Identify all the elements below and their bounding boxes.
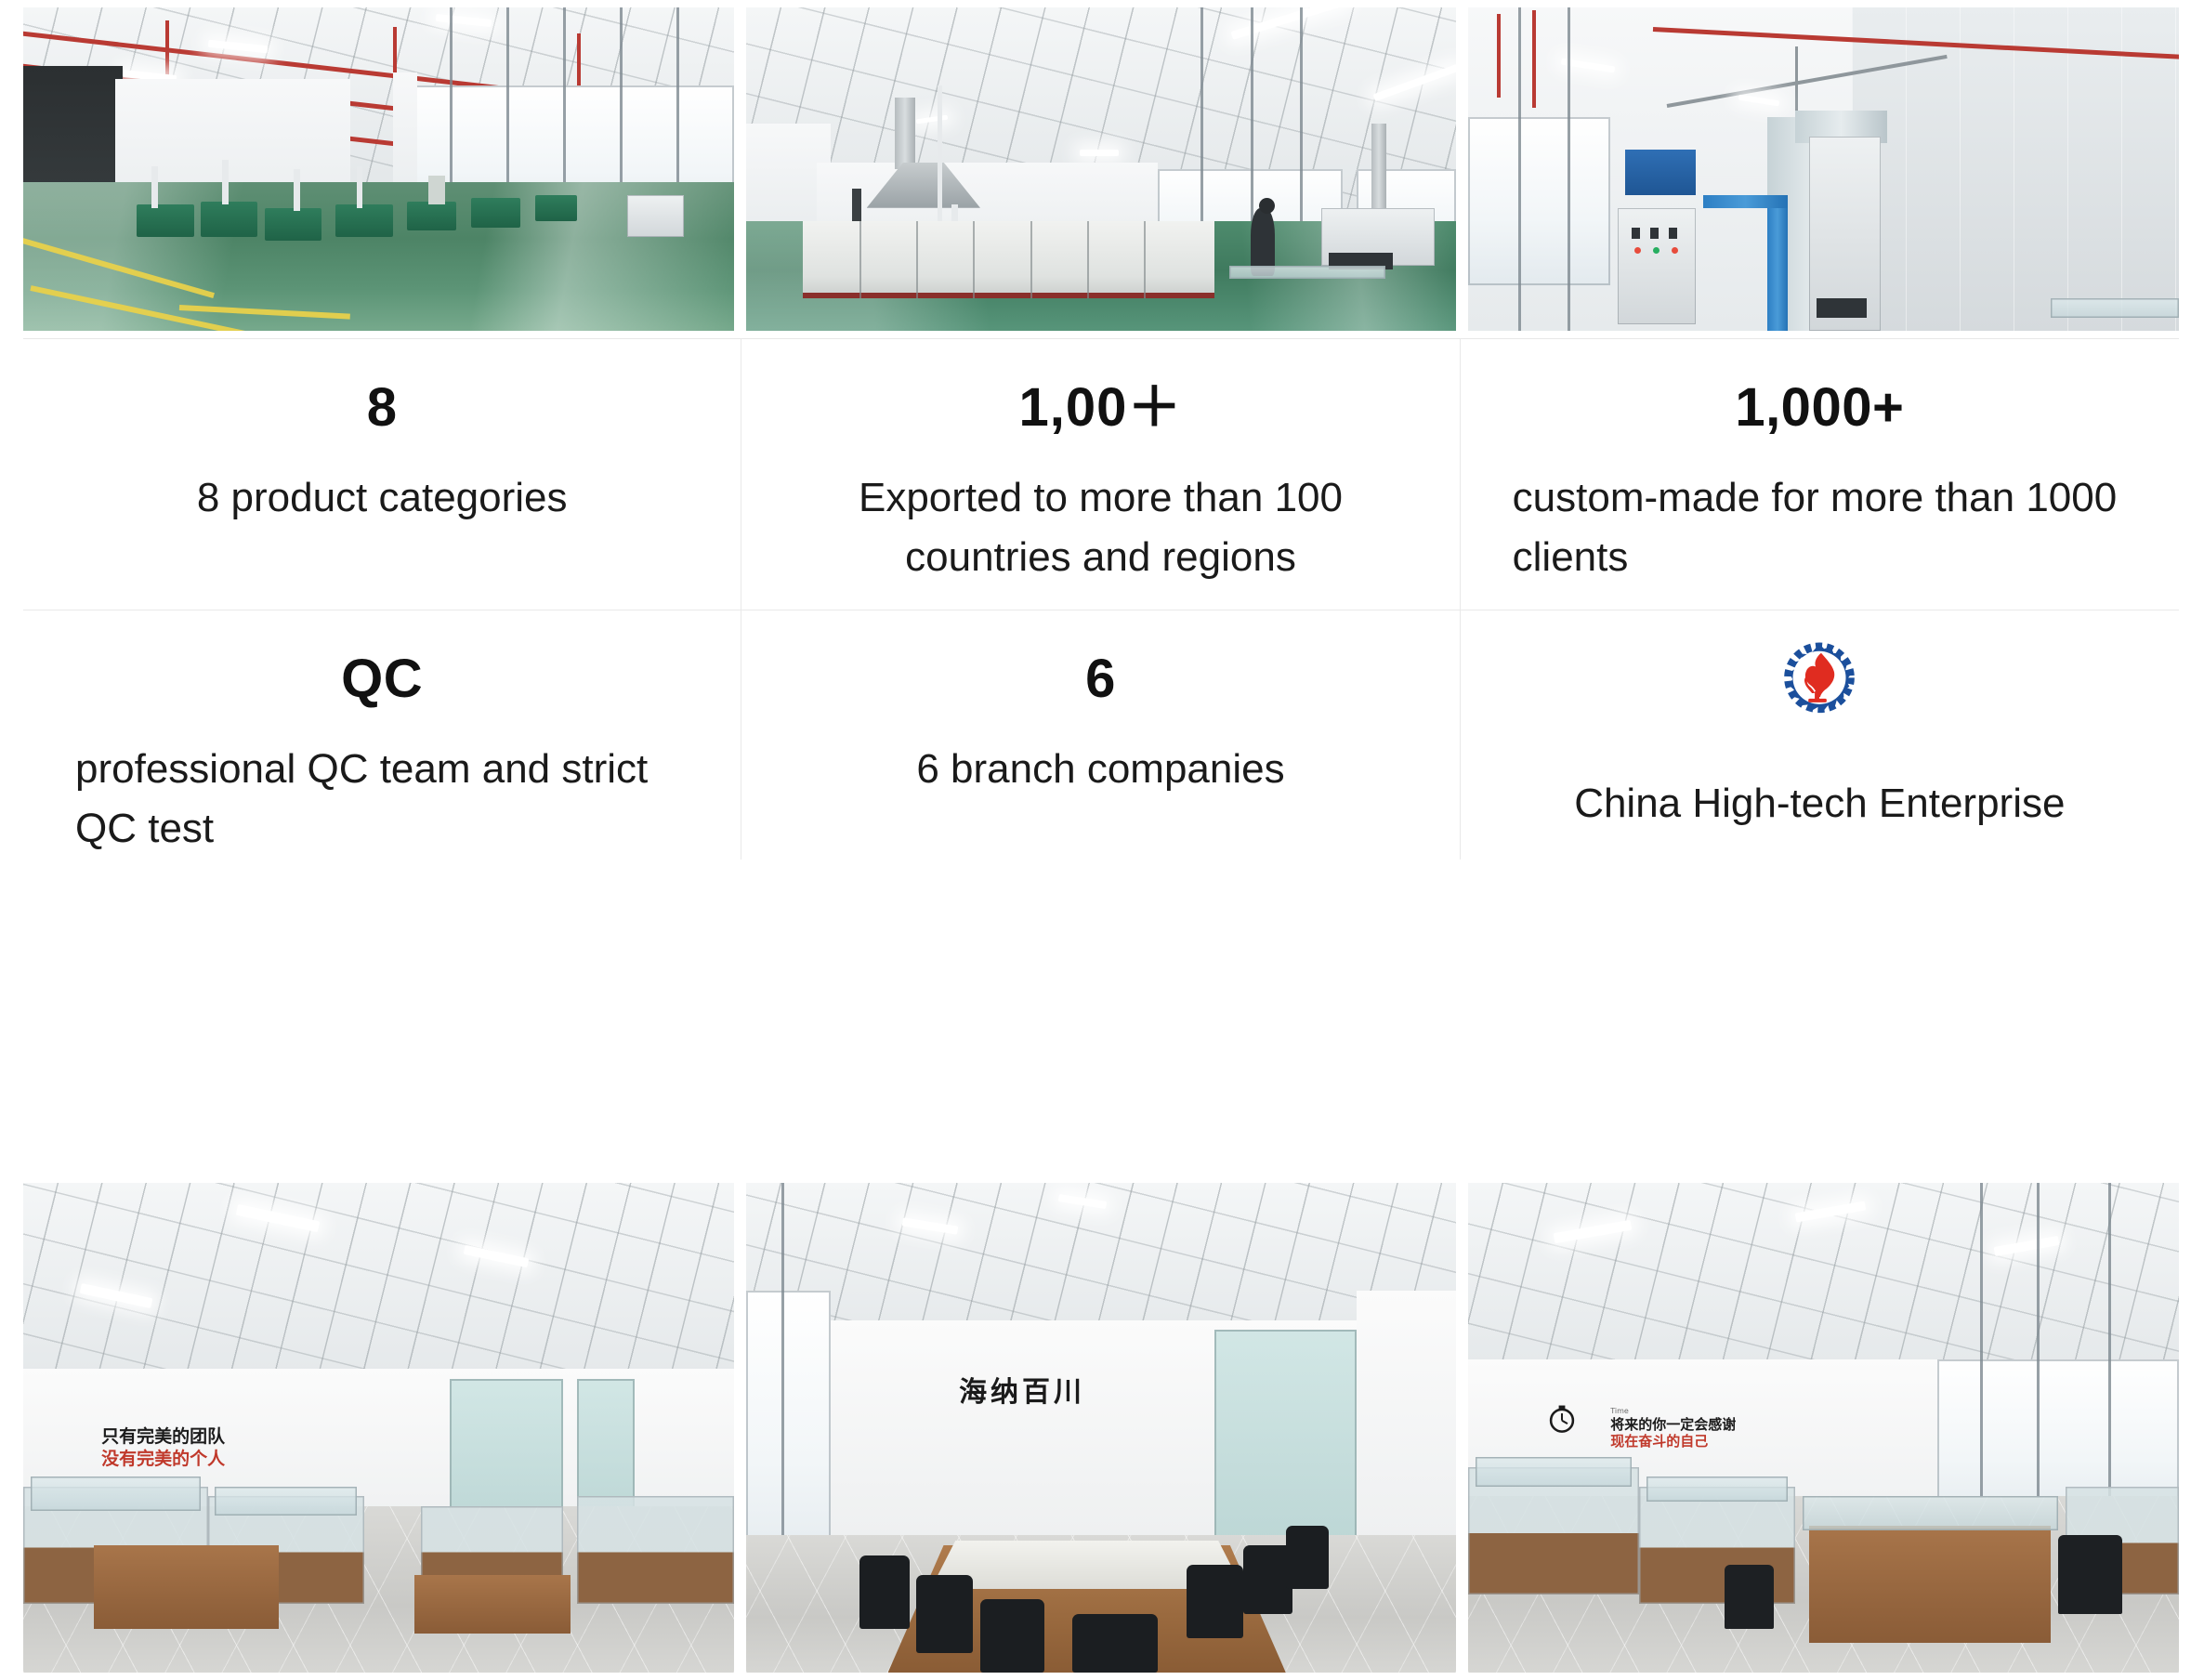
wall-art-calligraphy: 海纳百川 — [959, 1376, 1085, 1409]
wall-art-line1: 将来的你一定会感谢 — [1610, 1416, 1736, 1433]
stat-description: China High-tech Enterprise — [1574, 774, 2065, 833]
stat-cell-custom-clients: 1,000+ custom-made for more than 1000 cl… — [1461, 339, 2179, 610]
photo-meeting-room: 海纳百川 — [746, 1183, 1457, 1673]
bottom-photo-row: 只有完美的团队 没有完美的个人 — [23, 1183, 2179, 1673]
stat-cell-high-tech-enterprise: China High-tech Enterprise — [1461, 610, 2179, 860]
company-profile-page: 8 8 product categories 1,00＋ Exported to… — [0, 0, 2204, 1680]
stat-cell-export-countries: 1,00＋ Exported to more than 100 countrie… — [741, 339, 1460, 610]
top-photo-row — [23, 7, 2179, 331]
stat-description: professional QC team and strict QC test — [62, 740, 702, 859]
stat-value: 1,00＋ — [1019, 380, 1183, 437]
stat-value: QC — [341, 651, 423, 708]
photo-coating-machine-room — [1468, 7, 2179, 331]
stat-cell-quality-control: QC professional QC team and strict QC te… — [23, 610, 741, 860]
stat-description: Exported to more than 100 countries and … — [781, 468, 1420, 587]
stopwatch-icon — [1546, 1403, 1578, 1435]
stat-value: 8 — [367, 380, 398, 437]
china-high-tech-enterprise-logo-icon — [1765, 640, 1874, 750]
wall-art-line2: 现在奋斗的自己 — [1610, 1433, 1708, 1450]
stat-description: 8 product categories — [197, 468, 568, 528]
photo-open-plan-office: 只有完美的团队 没有完美的个人 — [23, 1183, 734, 1673]
wall-art-line1: 只有完美的团队 — [101, 1426, 225, 1447]
company-stats-grid: 8 8 product categories 1,00＋ Exported to… — [23, 338, 2179, 1175]
stat-description: 6 branch companies — [916, 740, 1284, 799]
stat-cell-branch-companies: 6 6 branch companies — [741, 610, 1460, 860]
wall-art-line2: 没有完美的个人 — [101, 1449, 225, 1469]
wall-art-en: Time — [1610, 1407, 1629, 1415]
stat-cell-product-categories: 8 8 product categories — [23, 339, 741, 610]
stat-value: 6 — [1085, 651, 1116, 708]
photo-office-workstations: Time 将来的你一定会感谢 现在奋斗的自己 — [1468, 1183, 2179, 1673]
stat-description: custom-made for more than 1000 clients — [1500, 468, 2140, 587]
stat-value: 1,000+ — [1735, 380, 1904, 437]
photo-tunnel-oven-line — [746, 7, 1457, 331]
photo-factory-production-line — [23, 7, 734, 331]
